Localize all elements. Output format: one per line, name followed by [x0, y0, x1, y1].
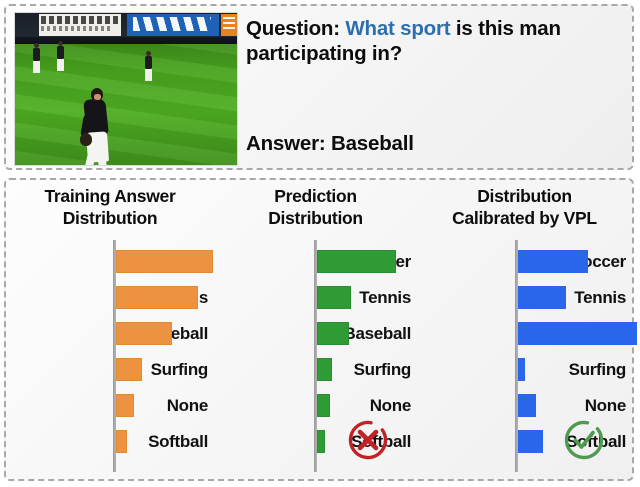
- bar: [518, 250, 588, 273]
- signage-subtext-left: [41, 26, 113, 31]
- chart-title: Distribution Calibrated by VPL: [417, 186, 632, 229]
- signage-text-left: [41, 16, 119, 24]
- chart-training-answer-distribution: Training Answer Distribution SoccerTenni…: [6, 180, 214, 479]
- bar: [317, 322, 349, 345]
- bar-row: Baseball: [6, 316, 214, 352]
- answer-text: Answer: Baseball: [246, 132, 414, 156]
- bar-row: Tennis: [214, 280, 417, 316]
- bar-row: None: [6, 388, 214, 424]
- bar: [317, 250, 396, 273]
- chart-title: Prediction Distribution: [214, 186, 417, 229]
- bar: [116, 430, 127, 453]
- bar: [518, 358, 525, 381]
- question-line: Question: What sport is this man partici…: [246, 16, 630, 66]
- bar-row: Tennis: [417, 280, 632, 316]
- question-text: Question: What sport is this man partici…: [246, 16, 630, 66]
- outfield-fence: [15, 37, 237, 44]
- question-highlight: What sport: [345, 17, 450, 40]
- foreground-baseball-player: [77, 88, 121, 166]
- answer-value: Baseball: [331, 132, 414, 155]
- bar: [116, 250, 213, 273]
- bar-row: Surfing: [417, 352, 632, 388]
- bar: [317, 358, 332, 381]
- bar-row: Baseball: [214, 316, 417, 352]
- baseball-player-photo: [14, 12, 238, 166]
- question-prefix: Question:: [246, 17, 345, 40]
- bar: [518, 430, 543, 453]
- plot-area: SoccerTennisBaseballSurfingNoneSoftball: [6, 240, 214, 476]
- chart-distribution-calibrated-by-vpl: Distribution Calibrated by VPL SoccerTen…: [417, 180, 632, 479]
- bar: [317, 286, 351, 309]
- bar-row: Tennis: [6, 280, 214, 316]
- bar: [116, 322, 172, 345]
- bar: [116, 358, 142, 381]
- bar: [116, 394, 134, 417]
- bar: [518, 322, 637, 345]
- answer-label: Answer:: [246, 132, 331, 155]
- bar-row: Soccer: [6, 244, 214, 280]
- distribution-charts-panel: Training Answer Distribution SoccerTenni…: [4, 178, 634, 481]
- bar-row: Soccer: [417, 244, 632, 280]
- bar-row: Softball: [6, 424, 214, 460]
- bar-row: Surfing: [214, 352, 417, 388]
- grass-field: [15, 44, 237, 165]
- bar: [518, 286, 566, 309]
- bar-row: Baseball: [417, 316, 632, 352]
- bar-category-label: Surfing: [534, 352, 632, 388]
- bar-row: Soccer: [214, 244, 417, 280]
- mow-pattern: [15, 44, 237, 165]
- bar: [317, 394, 330, 417]
- bar: [518, 394, 536, 417]
- chart-prediction-distribution: Prediction Distribution SoccerTennisBase…: [214, 180, 417, 479]
- bar: [317, 430, 325, 453]
- question-answer-panel: Question: What sport is this man partici…: [4, 4, 634, 170]
- circled-check-icon: [562, 418, 606, 462]
- bar-row: Surfing: [6, 352, 214, 388]
- signage-text-center: [133, 17, 211, 31]
- signage-text-right: [223, 17, 235, 29]
- circled-x-icon: [346, 418, 390, 462]
- chart-title: Training Answer Distribution: [6, 186, 214, 229]
- bar: [116, 286, 198, 309]
